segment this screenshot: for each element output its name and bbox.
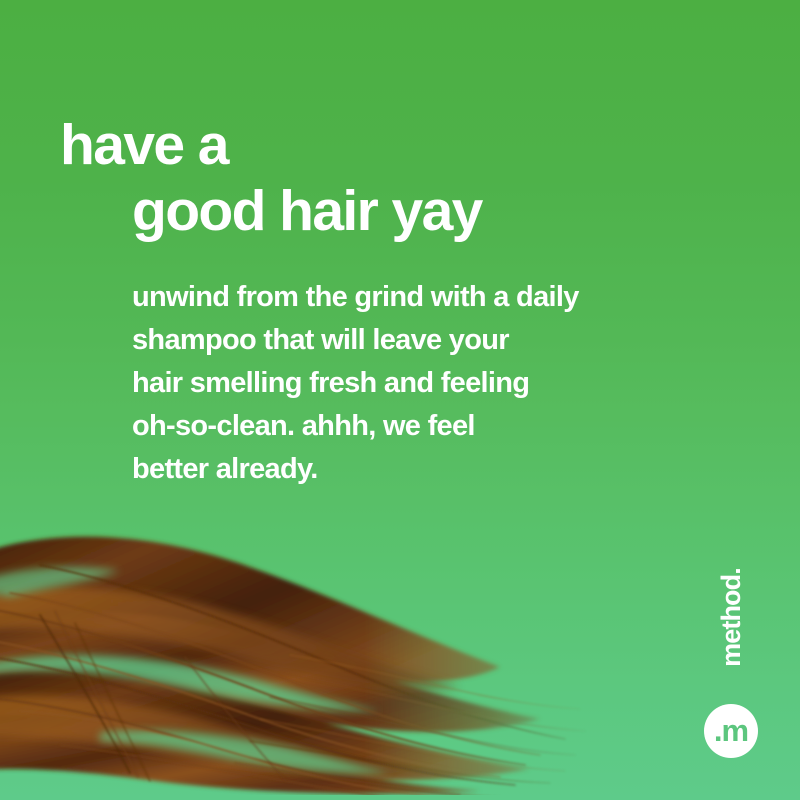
- method-wordmark-text: method.: [716, 568, 747, 667]
- brand-lockup: method. .m: [696, 552, 766, 772]
- hair-photo: [0, 505, 600, 795]
- headline-line-1: have a: [0, 112, 800, 178]
- method-wordmark: method.: [696, 552, 766, 682]
- method-badge-icon: .m: [704, 704, 758, 758]
- body-line-4: oh-so-clean. ahhh, we feel: [132, 405, 712, 448]
- method-badge-glyph: .m: [714, 715, 748, 746]
- body-line-5: better already.: [132, 448, 712, 491]
- body-copy: unwind from the grind with a daily shamp…: [132, 276, 712, 491]
- headline: have a good hair yay: [0, 112, 800, 244]
- body-line-3: hair smelling fresh and feeling: [132, 362, 712, 405]
- body-line-1: unwind from the grind with a daily: [132, 276, 712, 319]
- advertisement-canvas: have a good hair yay unwind from the gri…: [0, 0, 800, 800]
- headline-line-2: good hair yay: [0, 178, 800, 244]
- body-line-2: shampoo that will leave your: [132, 319, 712, 362]
